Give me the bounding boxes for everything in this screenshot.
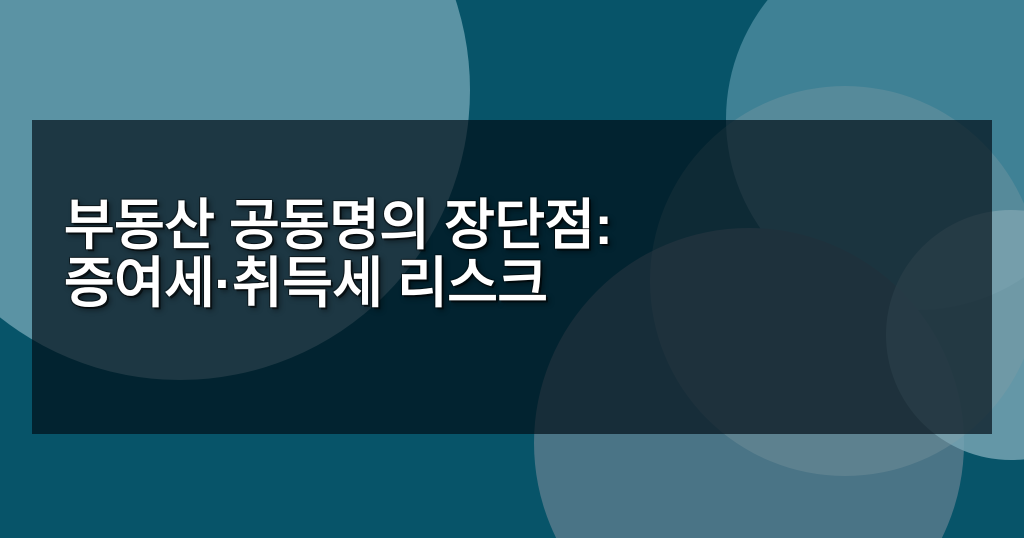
title-line-2: 증여세·취득세 리스크 bbox=[64, 254, 964, 312]
title-line-1: 부동산 공동명의 장단점: bbox=[64, 196, 964, 254]
decorative-circle-top-left bbox=[0, 0, 470, 380]
thumbnail-card: 부동산 공동명의 장단점: 증여세·취득세 리스크 bbox=[0, 0, 1024, 538]
page-title: 부동산 공동명의 장단점: 증여세·취득세 리스크 bbox=[64, 196, 964, 312]
